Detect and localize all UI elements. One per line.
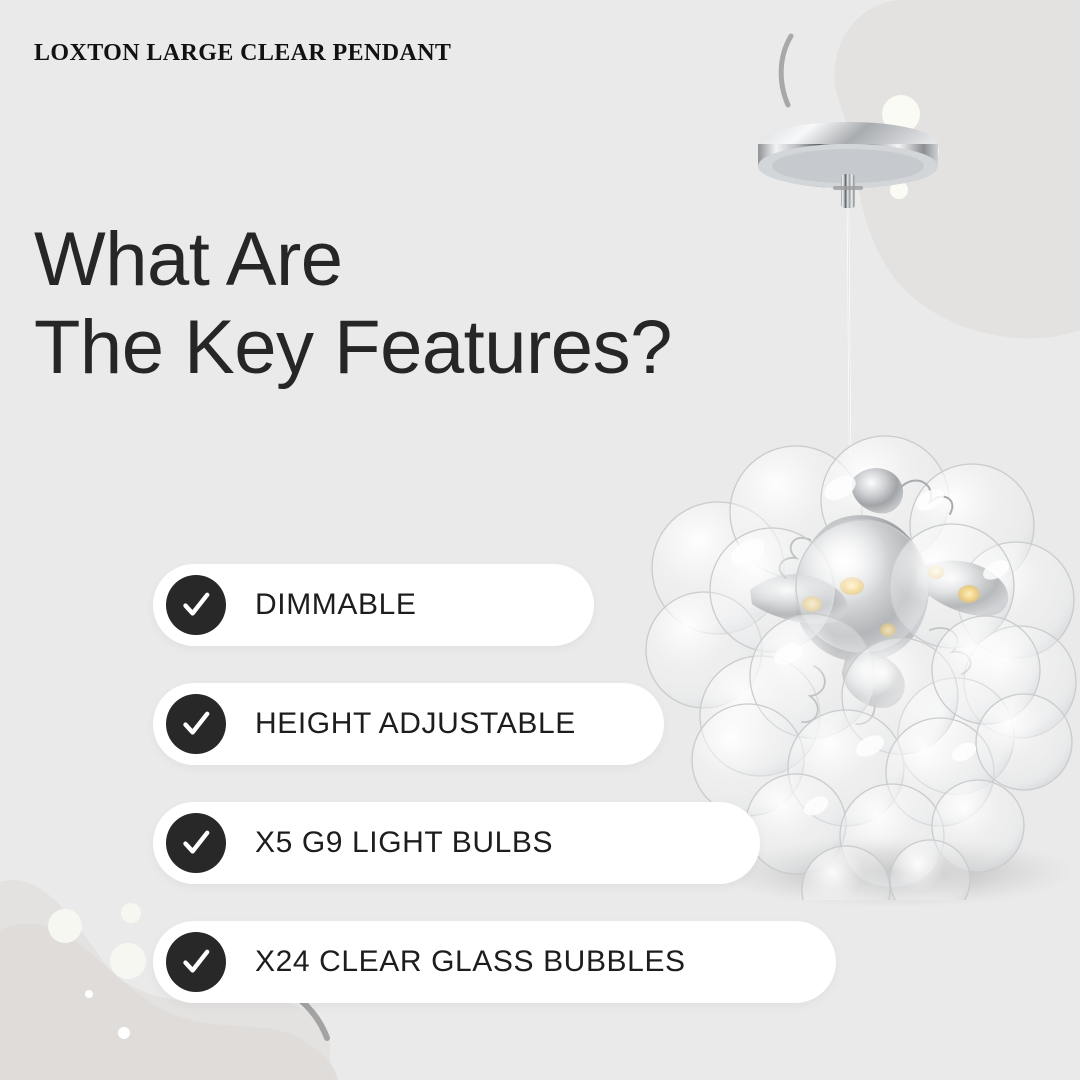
dot: [882, 95, 920, 133]
page-title: What Are The Key Features?: [34, 216, 672, 392]
dot: [890, 181, 908, 199]
headline-line-1: What Are: [34, 216, 672, 304]
headline-line-2: The Key Features?: [34, 304, 672, 392]
feature-item-height-adjustable[interactable]: HEIGHT ADJUSTABLE: [153, 683, 664, 765]
blob-top-right: [835, 0, 1080, 338]
ceiling-rose: [758, 122, 938, 208]
dot: [85, 990, 93, 998]
dot: [118, 1027, 130, 1039]
suspension-cable: [848, 208, 850, 455]
dot: [48, 909, 82, 943]
check-icon: [166, 813, 226, 873]
feature-item-dimmable[interactable]: DIMMABLE: [153, 564, 594, 646]
dot: [110, 943, 146, 979]
feature-label: DIMMABLE: [255, 588, 417, 622]
feature-item-glass-bubbles[interactable]: X24 CLEAR GLASS BUBBLES: [153, 921, 836, 1003]
check-icon: [166, 575, 226, 635]
check-icon: [166, 932, 226, 992]
feature-list: DIMMABLE HEIGHT ADJUSTABLE X5 G9 LIGHT B…: [153, 564, 836, 1003]
check-icon: [166, 694, 226, 754]
brand-title: LOXTON LARGE CLEAR PENDANT: [34, 40, 451, 67]
feature-item-light-bulbs[interactable]: X5 G9 LIGHT BULBS: [153, 802, 760, 884]
arc-top: [781, 36, 791, 105]
feature-label: X24 CLEAR GLASS BUBBLES: [255, 945, 686, 979]
dot: [846, 159, 870, 183]
infographic-canvas: LOXTON LARGE CLEAR PENDANT What Are The …: [0, 0, 1080, 1080]
feature-label: X5 G9 LIGHT BULBS: [255, 826, 553, 860]
feature-label: HEIGHT ADJUSTABLE: [255, 707, 576, 741]
dot: [121, 903, 141, 923]
dot: [929, 146, 939, 156]
